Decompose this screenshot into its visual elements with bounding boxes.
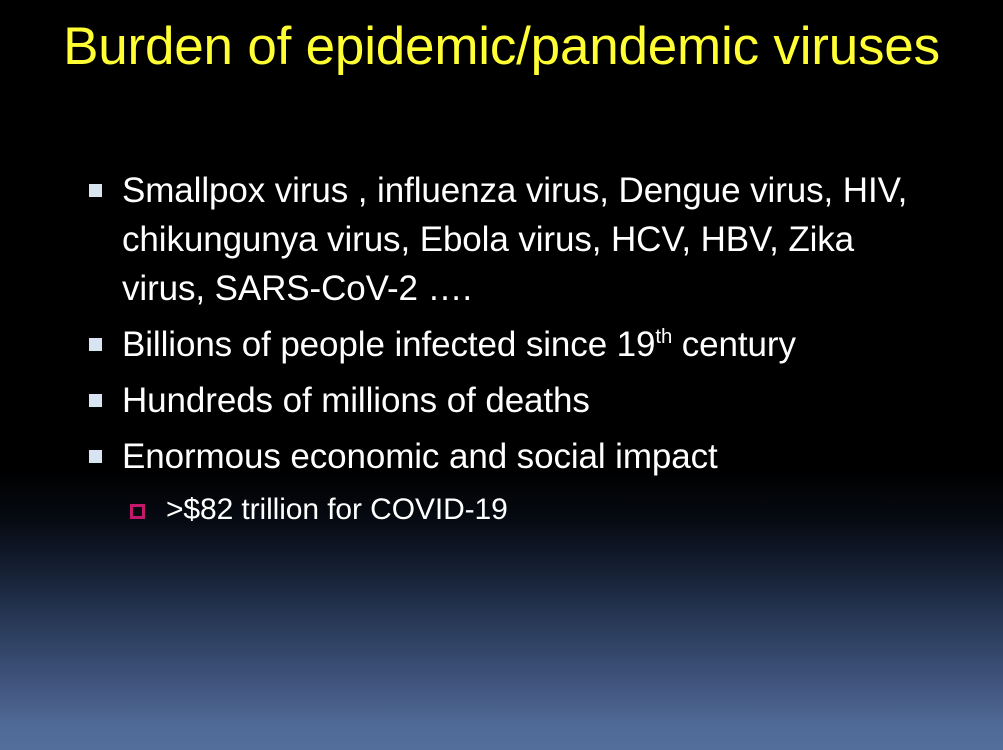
filled-square-bullet-icon: [89, 184, 102, 197]
filled-square-bullet-icon: [89, 394, 102, 407]
bullet-text: Enormous economic and social impact: [122, 432, 944, 481]
sub-bullet-item-covid-cost: >$82 trillion for COVID-19: [84, 488, 944, 532]
bullet-text: Billions of people infected since 19th c…: [122, 320, 944, 369]
presentation-slide: Burden of epidemic/pandemic viruses Smal…: [0, 0, 1003, 750]
sub-bullet-text: >$82 trillion for COVID-19: [166, 488, 944, 532]
bullet-text: Smallpox virus , influenza virus, Dengue…: [122, 166, 944, 313]
ordinal-superscript: th: [655, 326, 672, 348]
bullet-item-billions-infected: Billions of people infected since 19th c…: [84, 320, 944, 369]
slide-content: Burden of epidemic/pandemic viruses Smal…: [0, 0, 1003, 750]
bullet-item-hundreds-millions-deaths: Hundreds of millions of deaths: [84, 376, 944, 425]
slide-title: Burden of epidemic/pandemic viruses: [0, 16, 1003, 78]
filled-square-bullet-icon: [89, 450, 102, 463]
hollow-square-bullet-icon: [130, 504, 145, 519]
bullet-text-part-two: century: [672, 325, 796, 364]
bullet-text-part-one: Billions of people infected since 19: [122, 325, 655, 364]
bullet-text: Hundreds of millions of deaths: [122, 376, 944, 425]
filled-square-bullet-icon: [89, 338, 102, 351]
slide-body-bullet-list: Smallpox virus , influenza virus, Dengue…: [84, 166, 944, 532]
bullet-item-economic-social-impact: Enormous economic and social impact: [84, 432, 944, 481]
bullet-item-virus-list: Smallpox virus , influenza virus, Dengue…: [84, 166, 944, 313]
